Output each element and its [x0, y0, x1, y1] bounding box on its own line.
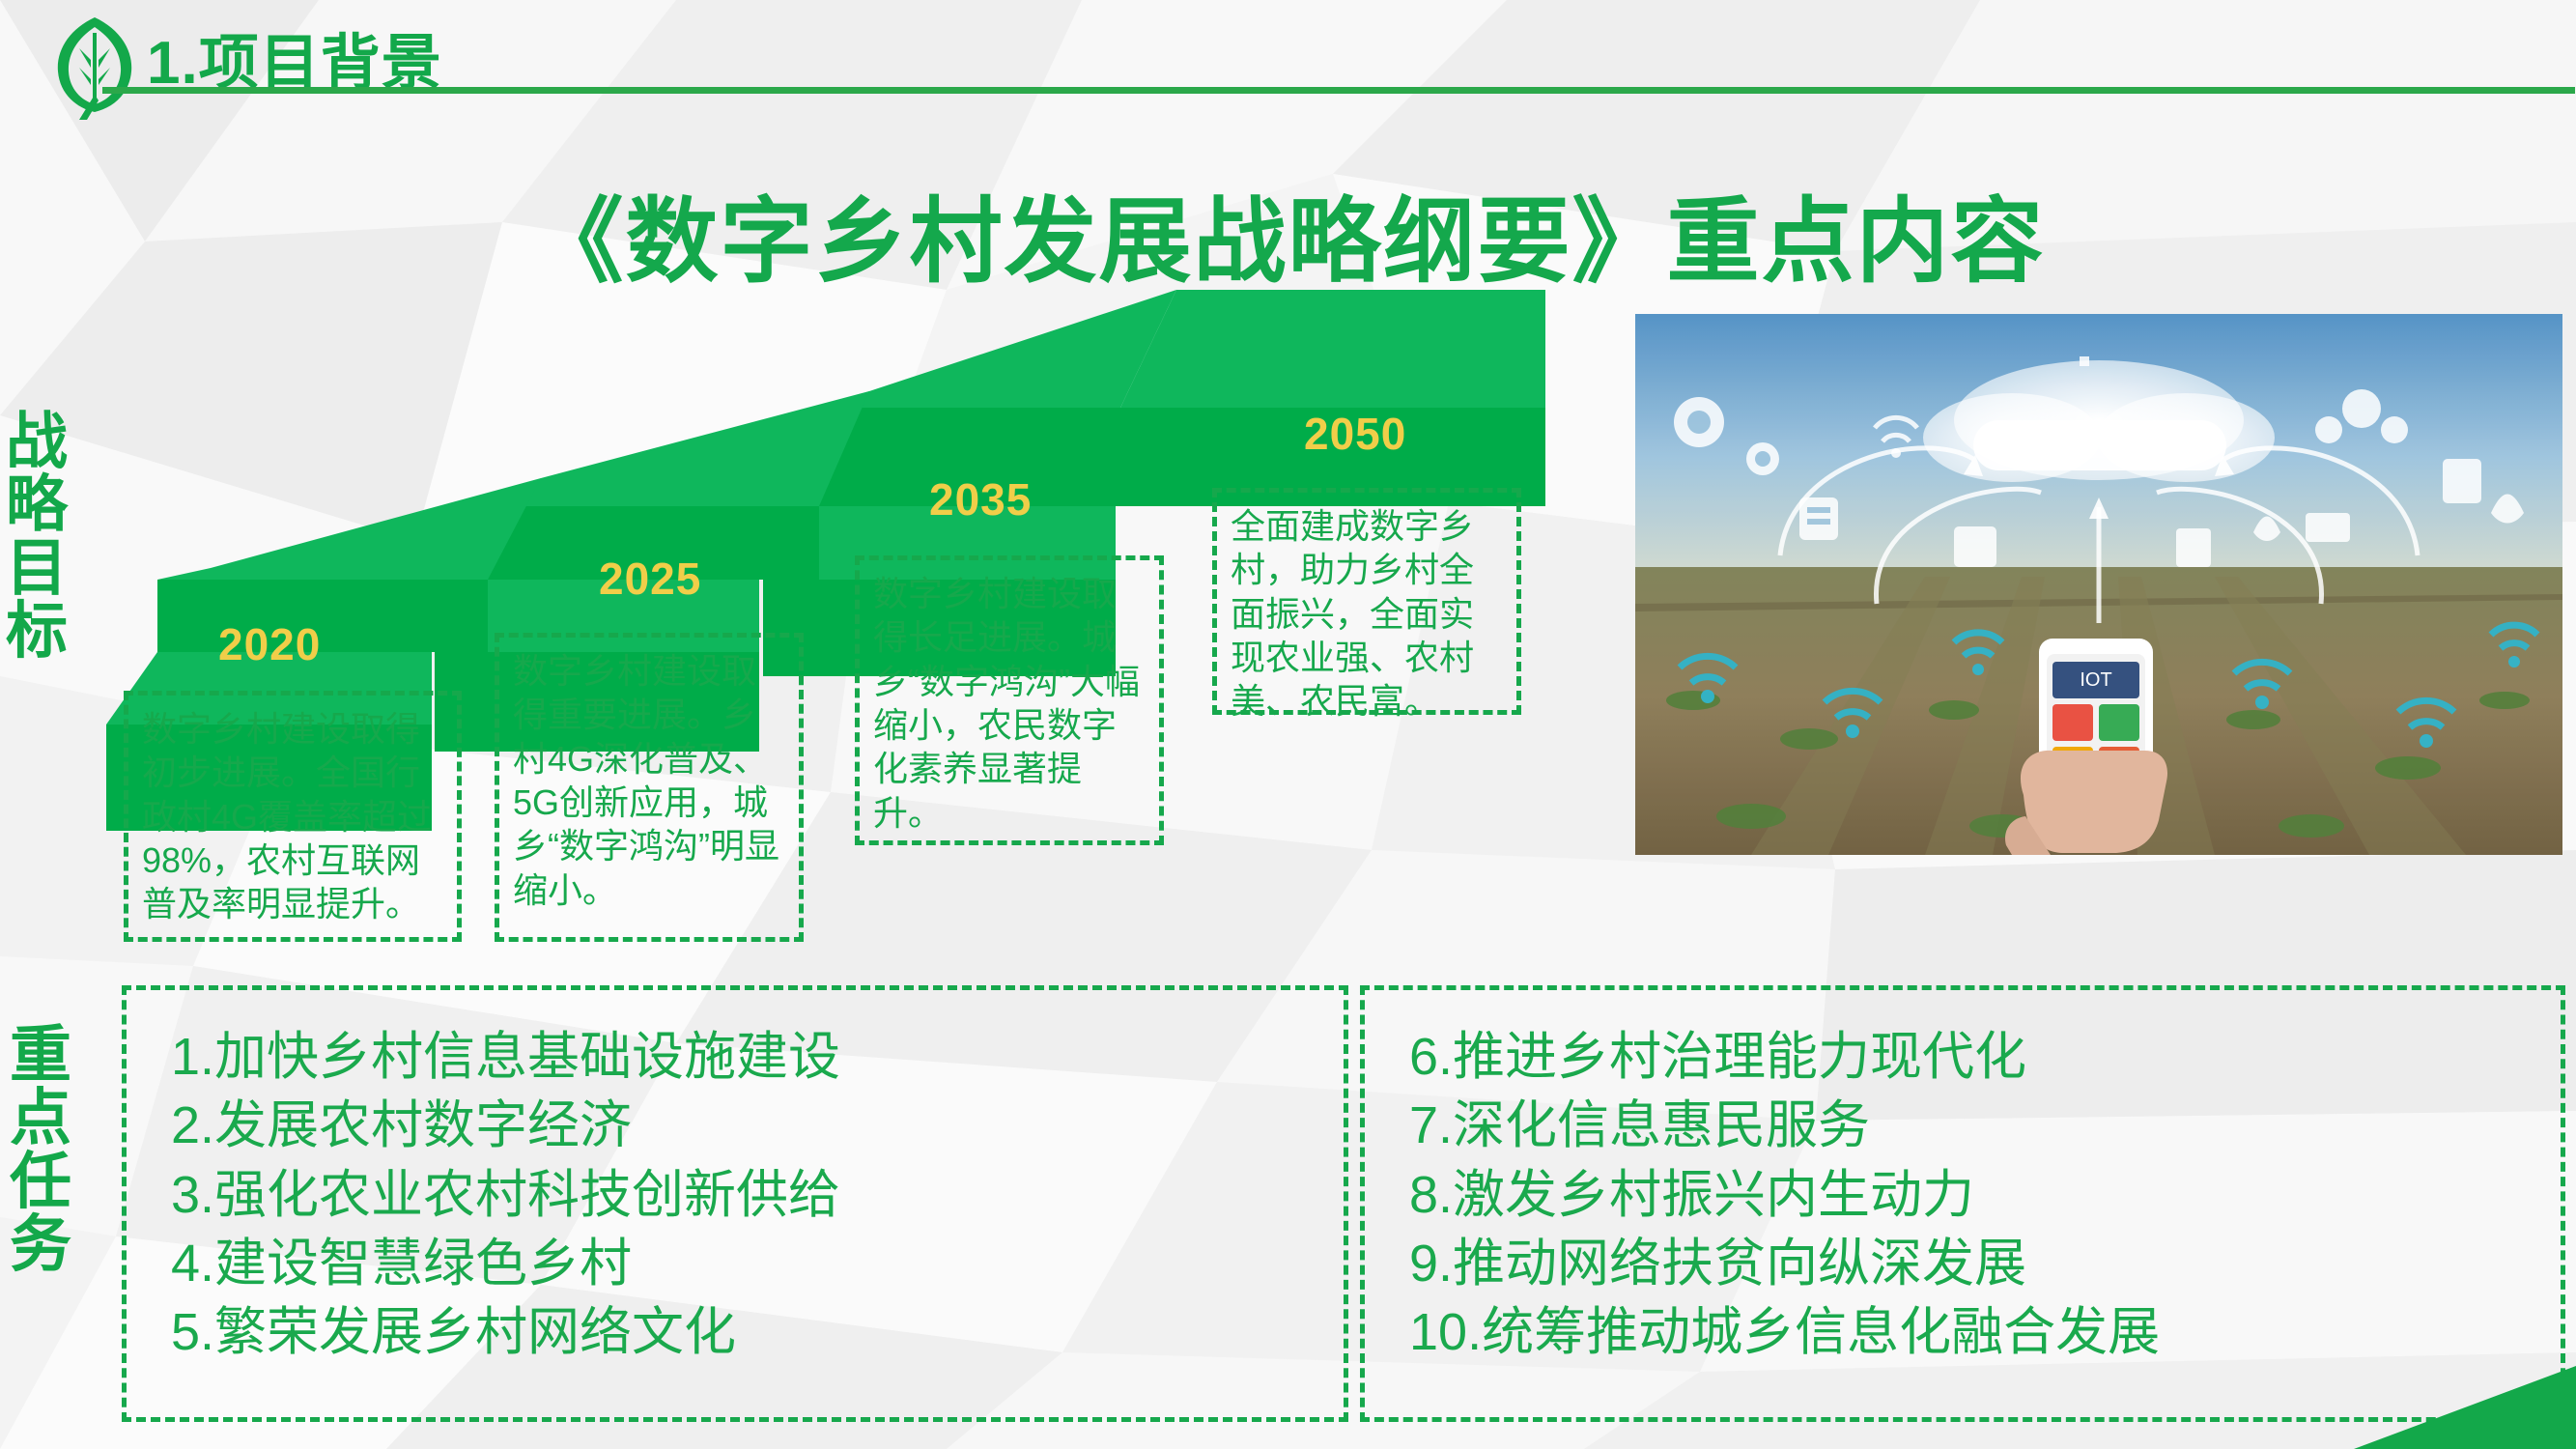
- vertical-label-key-tasks: 重 点 任 务: [6, 1024, 75, 1276]
- step-year-2025: 2025: [599, 553, 701, 605]
- step-year-2020: 2020: [218, 618, 321, 670]
- step-2020-top-wedge: [157, 478, 541, 580]
- key-tasks-right-list: 6.推进乡村治理能力现代化 7.深化信息惠民服务 8.激发乡村振兴内生动力 9.…: [1409, 1023, 2534, 1367]
- vlabel-goal-char-0: 战: [2, 411, 71, 473]
- photo-svg: IOT: [1635, 314, 2562, 855]
- list-item: 4.建设智慧绿色乡村: [171, 1230, 1316, 1298]
- vlabel-goal-char-3: 标: [2, 600, 71, 663]
- list-item: 5.繁荣发展乡村网络文化: [171, 1298, 1316, 1367]
- step-year-2035: 2035: [929, 473, 1032, 526]
- slide-header: 1.项目背景: [0, 0, 2576, 159]
- list-item: 6.推进乡村治理能力现代化: [1409, 1023, 2534, 1092]
- step-description-2035: 数字乡村建设取得长足进展。城乡“数字鸿沟”大幅缩小，农民数字化素养显著提升。: [855, 555, 1164, 845]
- key-tasks-left-box: 1.加快乡村信息基础设施建设 2.发展农村数字经济 3.强化农业农村科技创新供给…: [122, 985, 1348, 1422]
- vlabel-goal-char-1: 略: [2, 473, 71, 536]
- leaf-icon: [50, 12, 139, 120]
- header-divider-rule: [102, 87, 2575, 94]
- step-description-2050: 全面建成数字乡村，助力乡村全面振兴，全面实现农业强、农村美、农民富。: [1212, 488, 1521, 715]
- list-item: 8.激发乡村振兴内生动力: [1409, 1161, 2534, 1230]
- step-2050-top: [1120, 290, 1545, 408]
- list-item: 10.统筹推动城乡信息化融合发展: [1409, 1298, 2534, 1367]
- page-title: 《数字乡村发展战略纲要》重点内容: [0, 166, 2576, 300]
- key-tasks-right-box: 6.推进乡村治理能力现代化 7.深化信息惠民服务 8.激发乡村振兴内生动力 9.…: [1360, 985, 2565, 1422]
- list-item: 9.推动网络扶贫向纵深发展: [1409, 1230, 2534, 1298]
- step-2025-top-wedge: [488, 391, 869, 506]
- list-item: 7.深化信息惠民服务: [1409, 1092, 2534, 1160]
- key-tasks-left-list: 1.加快乡村信息基础设施建设 2.发展农村数字经济 3.强化农业农村科技创新供给…: [171, 1023, 1316, 1367]
- step-2035-top-wedge: [819, 290, 1176, 408]
- vlabel-task-char-0: 重: [6, 1024, 75, 1087]
- vlabel-task-char-1: 点: [6, 1087, 75, 1150]
- step-description-2020: 数字乡村建设取得初步进展。全国行政村4G覆盖率超过98%，农村互联网普及率明显提…: [124, 691, 462, 942]
- slide-root: 1.项目背景 《数字乡村发展战略纲要》重点内容 战 略 目 标 重 点 任 务: [0, 0, 2576, 1449]
- vlabel-task-char-2: 任: [6, 1151, 75, 1213]
- list-item: 2.发展农村数字经济: [171, 1092, 1316, 1160]
- smart-agriculture-iot-field-photo: IOT: [1635, 314, 2562, 855]
- corner-accent-triangle: [2354, 1366, 2576, 1449]
- step-year-2050: 2050: [1304, 408, 1406, 460]
- list-item: 3.强化农业农村科技创新供给: [171, 1161, 1316, 1230]
- step-2020-riser-upper: [157, 580, 488, 652]
- vlabel-goal-char-2: 目: [2, 537, 71, 600]
- step-description-2025: 数字乡村建设取得重要进展。乡村4G深化普及、5G创新应用，城乡“数字鸿沟”明显缩…: [495, 633, 804, 942]
- list-item: 1.加快乡村信息基础设施建设: [171, 1023, 1316, 1092]
- vlabel-task-char-3: 务: [6, 1213, 75, 1276]
- vertical-label-strategy-goal: 战 略 目 标: [2, 411, 71, 663]
